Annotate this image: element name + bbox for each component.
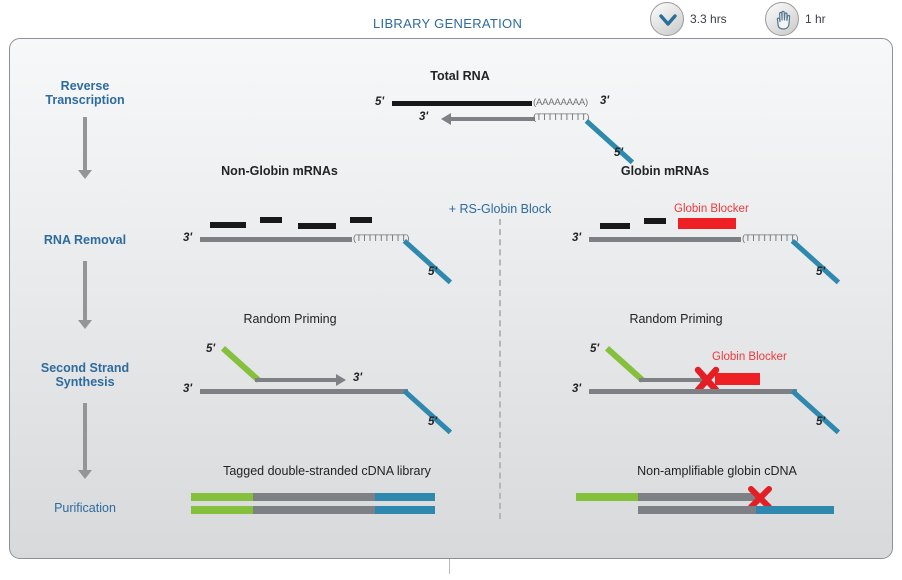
blue-adapter-tag — [585, 119, 634, 164]
reagent-label: + RS-Globin Block — [410, 202, 590, 216]
label-3-prime: 3' — [419, 111, 428, 123]
green-tag-segment — [576, 493, 638, 501]
template-strand — [589, 389, 797, 394]
stage-arrow-down-icon — [78, 261, 92, 329]
rna-fragment — [600, 223, 630, 229]
hands-on-time-label: 1 hr — [805, 12, 826, 26]
blue-tag-segment — [375, 506, 435, 514]
stage-label-line2: Transcription — [10, 93, 160, 107]
cdna-synthesis-arrow — [450, 117, 535, 121]
stage-arrow-down-icon — [78, 403, 92, 479]
stage-label-line1: RNA Removal — [10, 233, 160, 247]
label-3-prime: 3' — [353, 372, 362, 384]
blocked-x-icon — [692, 366, 722, 399]
diagram-title: Non-Globin mRNAs — [182, 164, 377, 178]
stage-label-line1: Purification — [10, 501, 160, 515]
label-3-prime: 3' — [572, 383, 581, 395]
label-3-prime: 3' — [183, 232, 192, 244]
cdna-segment — [638, 506, 756, 514]
diagram-title: Globin mRNAs — [570, 164, 760, 178]
rna-fragment — [298, 223, 336, 229]
sidebar-stage-purification: Purification — [10, 501, 160, 515]
chevron-down-icon — [650, 2, 684, 36]
label-5-prime: 5' — [375, 96, 384, 108]
label-3-prime: 3' — [183, 383, 192, 395]
diagram-title: Total RNA — [380, 69, 540, 83]
diagram-title: Non-amplifiable globin cDNA — [602, 464, 832, 478]
label-5-prime: 5' — [590, 343, 599, 355]
blue-tag-segment — [375, 493, 435, 501]
label-5-prime: 5' — [428, 266, 437, 278]
blue-tag-segment — [756, 506, 834, 514]
stage-label-line1: Reverse — [10, 79, 160, 93]
total-time-label: 3.3 hrs — [690, 12, 727, 26]
panel-bottom-connector — [449, 559, 450, 574]
column-divider — [499, 219, 501, 519]
template-strand — [200, 389, 408, 394]
rna-strand-black — [392, 101, 532, 106]
diagram-title: Tagged double-stranded cDNA library — [192, 464, 462, 478]
poly-t-primer: (TTTTTTTTT) — [353, 233, 409, 244]
cdna-strand — [200, 237, 352, 242]
label-3-prime: 3' — [572, 232, 581, 244]
sidebar-stage-reverse-transcription: Reverse Transcription — [10, 79, 160, 107]
page-title: LIBRARY GENERATION — [373, 16, 522, 31]
poly-t-primer: (TTTTTTTTT) — [533, 112, 589, 123]
label-5-prime: 5' — [428, 416, 437, 428]
header: LIBRARY GENERATION 3.3 hrs 1 hr — [0, 0, 902, 38]
stage-arrow-down-icon — [78, 117, 92, 179]
stage-label-line1: Second Strand — [10, 361, 160, 375]
cdna-segment — [253, 506, 375, 514]
label-5-prime: 5' — [614, 147, 623, 159]
diagram-title: Random Priming — [210, 312, 370, 326]
diagram-title: Random Priming — [596, 312, 756, 326]
sidebar-stage-rna-removal: RNA Removal — [10, 233, 160, 247]
globin-blocker-label: Globin Blocker — [712, 351, 787, 363]
rna-fragment — [210, 222, 246, 228]
hand-icon — [765, 2, 799, 36]
label-3-prime: 3' — [600, 95, 609, 107]
poly-a-tail: (AAAAAAAA) — [533, 97, 588, 108]
rna-fragment — [644, 218, 666, 224]
stage-label-line2: Synthesis — [10, 375, 160, 389]
sidebar-stage-second-strand-synthesis: Second Strand Synthesis — [10, 361, 160, 389]
green-tag-segment — [191, 493, 253, 501]
rna-fragment — [260, 217, 282, 223]
stage-sidebar: Reverse Transcription RNA Removal Second… — [10, 39, 160, 560]
label-5-prime: 5' — [816, 266, 825, 278]
globin-blocker-bar — [678, 218, 736, 229]
second-strand-arrow — [255, 378, 337, 382]
label-5-prime: 5' — [816, 416, 825, 428]
workflow-panel: Reverse Transcription RNA Removal Second… — [9, 38, 893, 559]
globin-blocker-label: Globin Blocker — [674, 203, 749, 215]
rna-fragment — [350, 217, 372, 223]
label-5-prime: 5' — [206, 343, 215, 355]
green-tag-segment — [191, 506, 253, 514]
cdna-segment — [253, 493, 375, 501]
cdna-strand — [589, 237, 741, 242]
cdna-segment — [638, 493, 756, 501]
